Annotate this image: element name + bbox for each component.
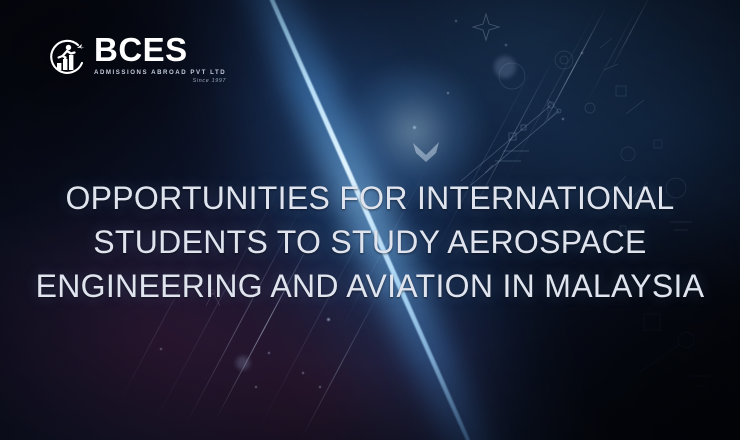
headline-line-2: STUDENTS TO STUDY AEROSPACE	[18, 220, 722, 264]
logo-tagline: ADMISSIONS ABROAD PVT LTD	[94, 69, 226, 76]
logo-text-block: BCES ADMISSIONS ABROAD PVT LTD Since 199…	[94, 33, 226, 84]
logo-name: BCES	[94, 33, 226, 66]
headline: OPPORTUNITIES FOR INTERNATIONAL STUDENTS…	[0, 176, 740, 308]
headline-line-3: ENGINEERING AND AVIATION IN MALAYSIA	[18, 264, 722, 308]
brand-logo[interactable]: BCES ADMISSIONS ABROAD PVT LTD Since 199…	[44, 33, 226, 84]
headline-line-1: OPPORTUNITIES FOR INTERNATIONAL	[18, 176, 722, 220]
running-figure-bar-chart-circle-icon	[44, 37, 88, 81]
logo-since: Since 1997	[94, 78, 226, 84]
hero-banner: BCES ADMISSIONS ABROAD PVT LTD Since 199…	[0, 0, 740, 440]
